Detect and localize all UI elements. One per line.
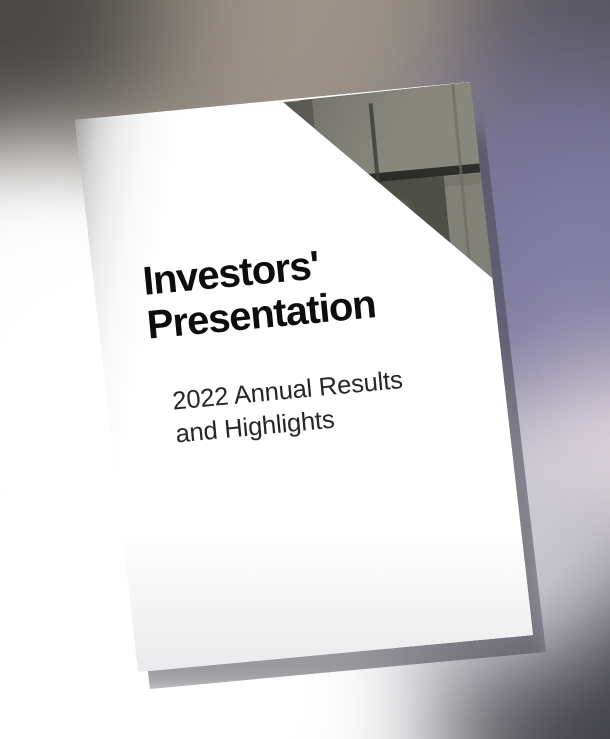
booklet-cover: Investors' Presentation 2022 Annual Resu… <box>75 82 545 682</box>
screenshot-canvas: Investors' Presentation 2022 Annual Resu… <box>0 0 610 739</box>
cover-type-block: Investors' Presentation 2022 Annual Resu… <box>141 229 488 453</box>
